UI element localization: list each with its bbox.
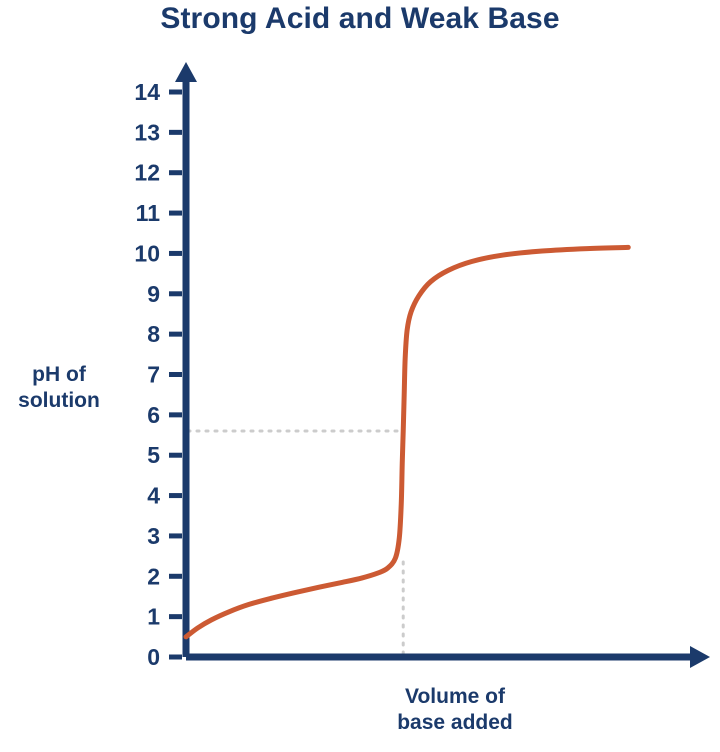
y-axis-tick-label: 10 xyxy=(134,240,160,266)
y-axis-tick-label: 5 xyxy=(147,442,160,468)
y-axis-arrow-icon xyxy=(175,62,197,82)
y-axis-tick-label: 14 xyxy=(134,79,160,105)
y-axis-tick-label: 11 xyxy=(136,200,161,226)
y-axis-tick-label: 4 xyxy=(147,483,160,509)
y-axis-tick-label: 2 xyxy=(147,563,160,589)
guide-lines xyxy=(188,431,403,654)
y-axis-tick-label: 9 xyxy=(147,281,160,307)
y-axis-tick-label: 0 xyxy=(147,644,160,670)
y-axis-ticks: 01234567891011121314 xyxy=(134,79,182,670)
axes xyxy=(175,62,710,668)
titration-curve xyxy=(186,247,628,636)
y-axis-tick-label: 3 xyxy=(147,523,160,549)
y-axis-tick-label: 12 xyxy=(134,160,160,186)
data-curves xyxy=(186,247,628,636)
y-axis-tick-label: 1 xyxy=(147,604,160,630)
chart-figure: Strong Acid and Weak Base pH of solution… xyxy=(0,0,720,752)
y-axis-tick-label: 7 xyxy=(147,362,160,388)
y-axis-tick-label: 6 xyxy=(147,402,160,428)
plot-area: 01234567891011121314 xyxy=(0,0,720,752)
x-axis-arrow-icon xyxy=(690,646,710,668)
y-axis-tick-label: 8 xyxy=(147,321,160,347)
y-axis-tick-label: 13 xyxy=(134,119,160,145)
